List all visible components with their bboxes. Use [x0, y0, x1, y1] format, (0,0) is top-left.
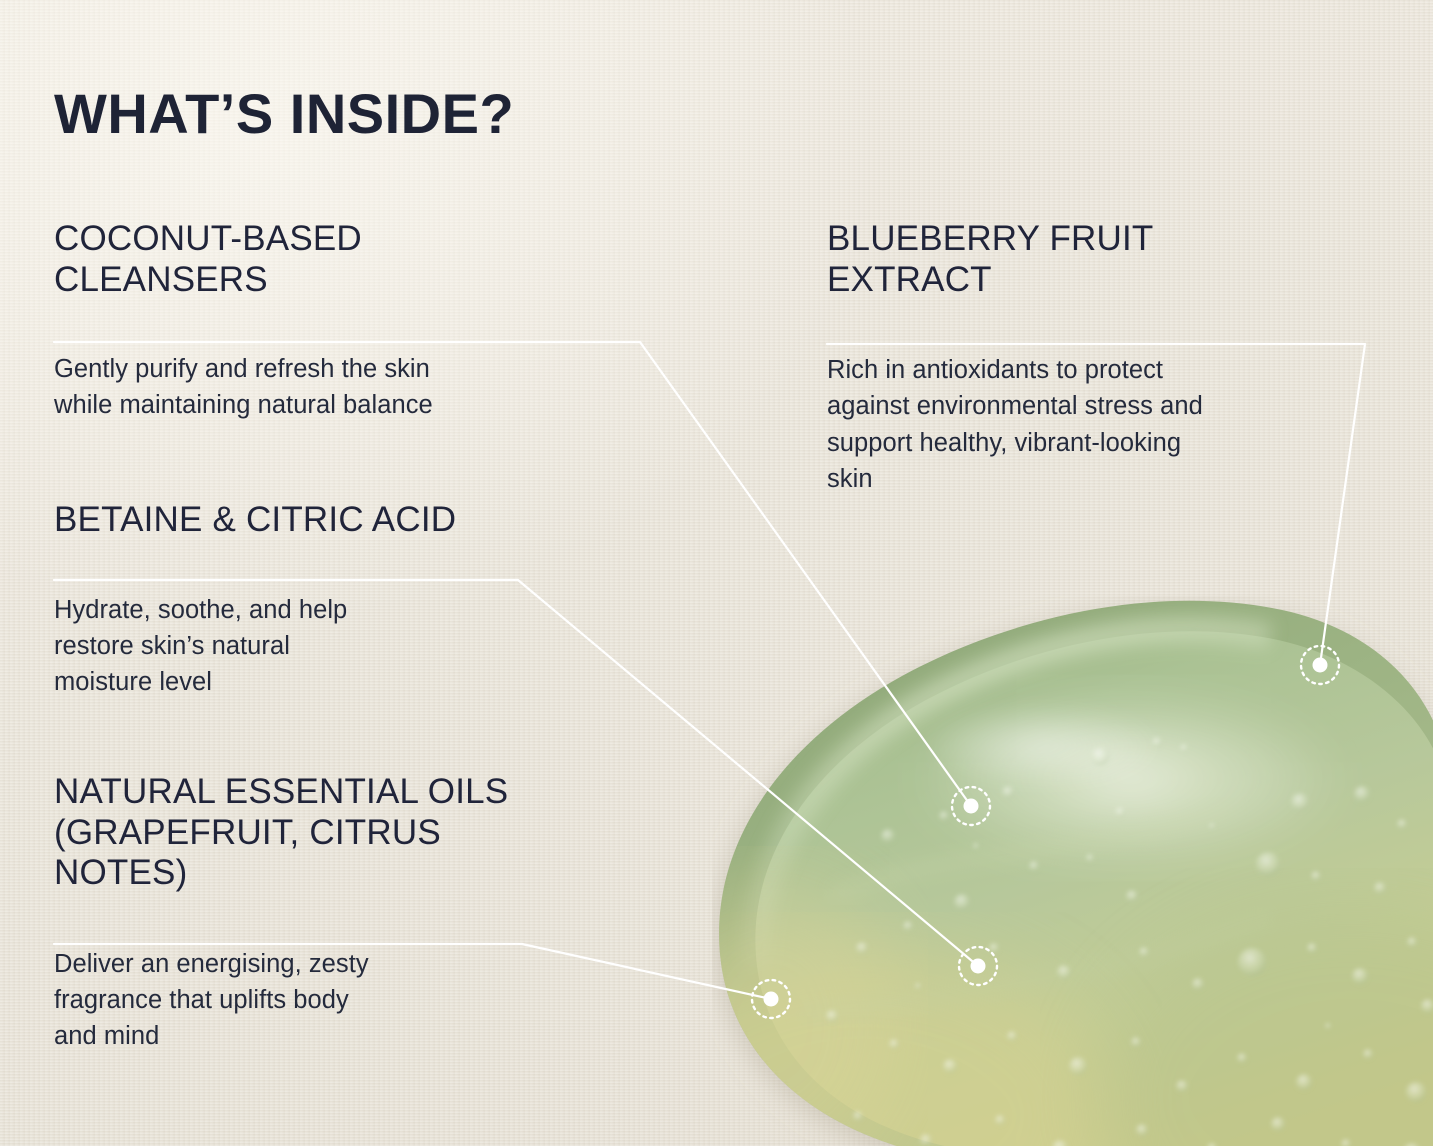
callout-marker-betaine	[959, 947, 997, 985]
callout-marker-oils	[752, 980, 790, 1018]
ingredient-section-blueberry: BLUEBERRY FRUIT EXTRACT Rich in antioxid…	[827, 219, 1387, 497]
product-gel-swatch	[712, 596, 1433, 1146]
ingredient-heading-blueberry: BLUEBERRY FRUIT EXTRACT	[827, 219, 1387, 300]
ingredient-body-blueberry: Rich in antioxidants to protect against …	[827, 352, 1387, 497]
callout-marker-coconut	[952, 787, 990, 825]
ingredient-heading-oils: NATURAL ESSENTIAL OILS (GRAPEFRUIT, CITR…	[54, 772, 694, 894]
ingredient-body-coconut: Gently purify and refresh the skin while…	[54, 351, 674, 423]
ingredient-section-betaine: BETAINE & CITRIC ACID Hydrate, soothe, a…	[54, 500, 674, 700]
callout-marker-blueberry	[1301, 646, 1339, 684]
ingredient-section-oils: NATURAL ESSENTIAL OILS (GRAPEFRUIT, CITR…	[54, 772, 694, 1054]
page-title: WHAT’S INSIDE?	[54, 86, 514, 142]
callout-markers	[752, 646, 1339, 1018]
ingredient-body-betaine: Hydrate, soothe, and help restore skin’s…	[54, 592, 674, 701]
ingredient-heading-betaine: BETAINE & CITRIC ACID	[54, 500, 674, 541]
ingredient-section-coconut: COCONUT-BASED CLEANSERS Gently purify an…	[54, 219, 674, 424]
ingredient-heading-coconut: COCONUT-BASED CLEANSERS	[54, 219, 674, 300]
ingredient-body-oils: Deliver an energising, zesty fragrance t…	[54, 946, 694, 1055]
